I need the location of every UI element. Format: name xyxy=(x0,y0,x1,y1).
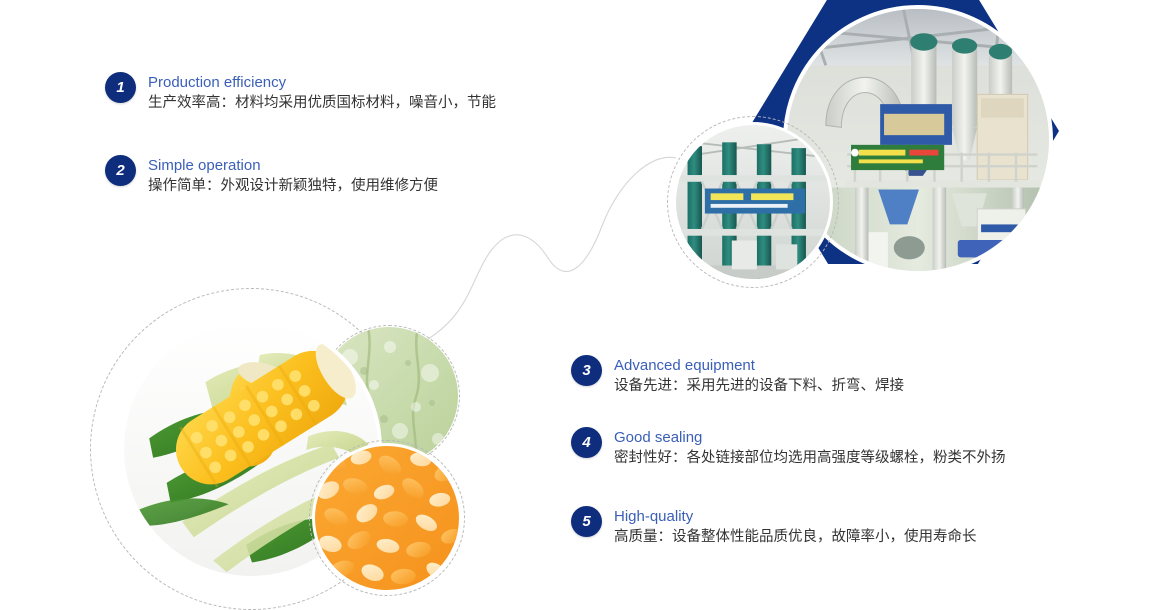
feature-text-5: High-quality 高质量：设备整体性能品质优良，故障率小，使用寿命长 xyxy=(614,506,977,547)
feature-desc-4: 密封性好：各处链接部位均选用高强度等级螺栓，粉类不外扬 xyxy=(614,448,1006,468)
feature-title-5: High-quality xyxy=(614,507,977,526)
feature-text-1: Production efficiency 生产效率高：材料均采用优质国标材料，… xyxy=(148,72,496,113)
feature-title-1: Production efficiency xyxy=(148,73,496,92)
infographic-canvas: 1 Production efficiency 生产效率高：材料均采用优质国标材… xyxy=(0,0,1154,591)
feature-title-2: Simple operation xyxy=(148,156,438,175)
feature-badge-5: 5 xyxy=(571,506,602,537)
flour-milling-plant-small-image xyxy=(676,125,830,279)
feature-item-2: 2 Simple operation 操作简单：外观设计新颖独特，使用维修方便 xyxy=(105,155,438,196)
feature-desc-1: 生产效率高：材料均采用优质国标材料，噪音小，节能 xyxy=(148,93,496,113)
photo-flour-milling-plant-small xyxy=(673,122,833,282)
feature-item-4: 4 Good sealing 密封性好：各处链接部位均选用高强度等级螺栓，粉类不… xyxy=(571,427,1006,468)
photo-corn-grits-kernels xyxy=(312,443,462,593)
feature-badge-4: 4 xyxy=(571,427,602,458)
feature-desc-2: 操作简单：外观设计新颖独特，使用维修方便 xyxy=(148,176,438,196)
feature-text-4: Good sealing 密封性好：各处链接部位均选用高强度等级螺栓，粉类不外扬 xyxy=(614,427,1006,468)
feature-title-3: Advanced equipment xyxy=(614,356,904,375)
feature-item-5: 5 High-quality 高质量：设备整体性能品质优良，故障率小，使用寿命长 xyxy=(571,506,977,547)
feature-title-4: Good sealing xyxy=(614,428,1006,447)
feature-desc-5: 高质量：设备整体性能品质优良，故障率小，使用寿命长 xyxy=(614,527,977,547)
feature-badge-1: 1 xyxy=(105,72,136,103)
feature-badge-2: 2 xyxy=(105,155,136,186)
feature-text-3: Advanced equipment 设备先进：采用先进的设备下料、折弯、焊接 xyxy=(614,355,904,396)
feature-item-1: 1 Production efficiency 生产效率高：材料均采用优质国标材… xyxy=(105,72,496,113)
feature-text-2: Simple operation 操作简单：外观设计新颖独特，使用维修方便 xyxy=(148,155,438,196)
corn-grits-kernels-image xyxy=(315,446,459,590)
feature-badge-3: 3 xyxy=(571,355,602,386)
feature-item-3: 3 Advanced equipment 设备先进：采用先进的设备下料、折弯、焊… xyxy=(571,355,904,396)
feature-desc-3: 设备先进：采用先进的设备下料、折弯、焊接 xyxy=(614,376,904,396)
